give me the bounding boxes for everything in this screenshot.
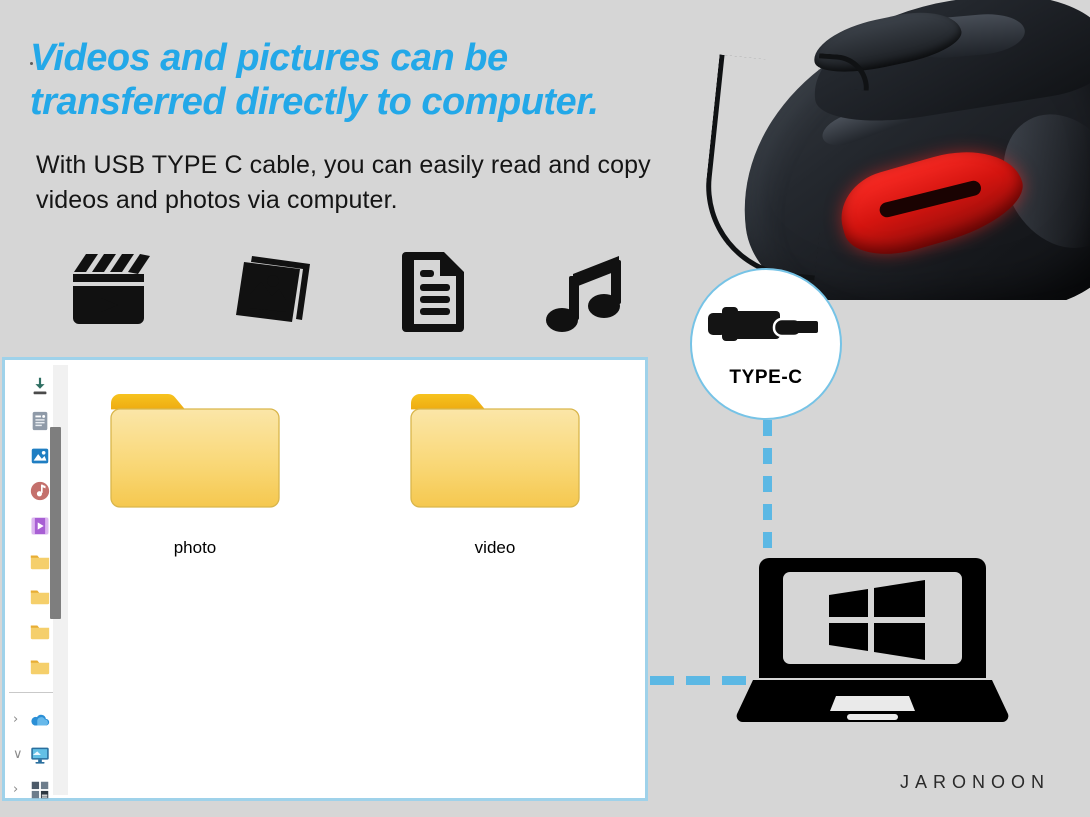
folder-icon (405, 385, 585, 520)
folder-icon (29, 550, 51, 572)
folder-icon (29, 585, 51, 607)
explorer-content-pane[interactable]: photo video (73, 360, 645, 798)
photos-stack-icon (228, 248, 338, 348)
folder-icon (105, 385, 285, 520)
file-explorer-window[interactable]: › ∨ › (2, 357, 648, 801)
network-icon (29, 779, 51, 801)
folder-item-photo[interactable]: photo (95, 385, 295, 558)
page-subtitle-line1: With USB TYPE C cable, you can easily re… (36, 151, 541, 179)
helmet-taillight (831, 135, 1032, 267)
monitor-icon (29, 744, 51, 766)
page-title-line1: Videos and pictures can be (30, 37, 508, 79)
explorer-sidebar[interactable]: › ∨ › (5, 360, 73, 798)
music-note-icon (545, 248, 655, 348)
laptop-with-windows-logo (735, 550, 1010, 740)
pictures-icon (29, 445, 51, 467)
cloud-icon (29, 709, 51, 731)
videos-icon (29, 515, 51, 537)
brand-wordmark: JARONOON (900, 772, 1050, 793)
page-subtitle: With USB TYPE C cable, you can easily re… (36, 148, 676, 217)
usbc-cable-lower (700, 54, 837, 280)
download-icon (29, 375, 51, 397)
typec-label: TYPE-C (729, 367, 802, 389)
typec-badge: TYPE-C (690, 268, 842, 420)
dashed-connector-vertical (763, 420, 772, 560)
vertical-scrollbar-track[interactable] (53, 365, 68, 795)
video-clapperboard-icon (68, 248, 178, 348)
folder-label: photo (95, 538, 295, 558)
usbc-connector-icon (708, 299, 824, 361)
folder-icon (29, 620, 51, 642)
folder-item-video[interactable]: video (395, 385, 595, 558)
vertical-scrollbar-thumb[interactable] (50, 427, 61, 619)
chevron-down-icon[interactable]: ∨ (13, 748, 26, 761)
media-types-row (60, 248, 660, 348)
chevron-right-icon[interactable]: › (13, 713, 26, 726)
document-icon (400, 248, 510, 348)
taillight-slit (878, 179, 983, 219)
music-icon (29, 480, 51, 502)
chevron-right-icon[interactable]: › (13, 783, 26, 796)
documents-icon (29, 410, 51, 432)
page-title: Videos and pictures can be transferred d… (30, 36, 710, 124)
helmet-product-photo (700, 0, 1090, 300)
page-title-line2: transferred directly to computer. (30, 80, 710, 124)
infographic-canvas: Videos and pictures can be transferred d… (0, 0, 1090, 817)
folder-icon (29, 655, 51, 677)
folder-label: video (395, 538, 595, 558)
